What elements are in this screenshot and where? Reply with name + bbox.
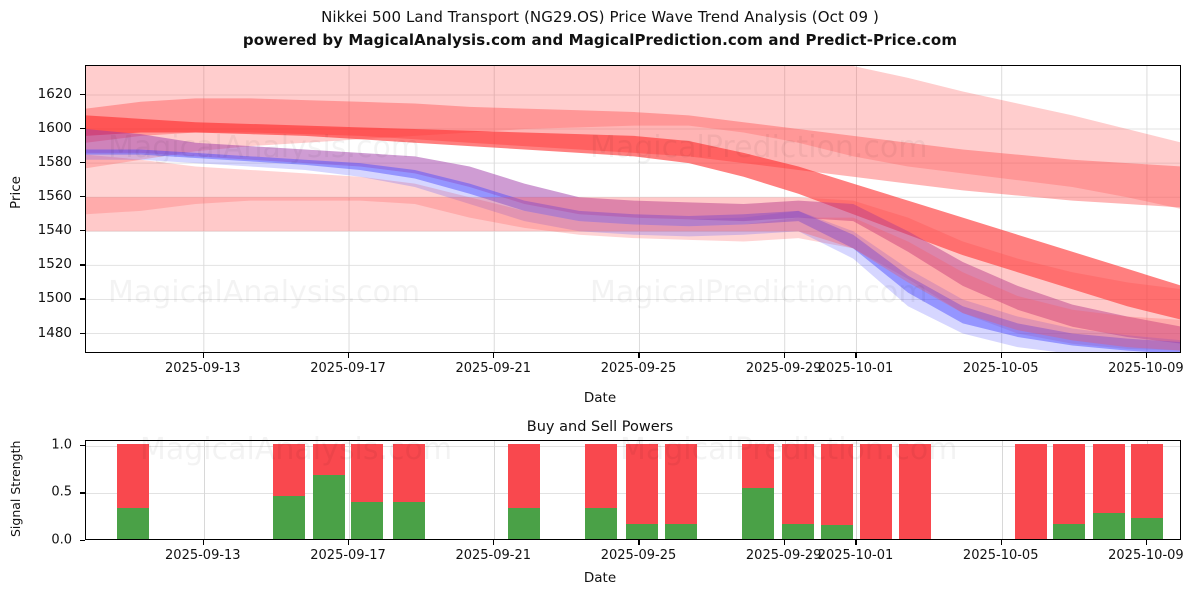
power-bar[interactable] [117,444,149,539]
power-x-tick-mark [855,540,856,545]
power-bar[interactable] [313,444,345,539]
power-x-tick-mark [638,540,639,545]
power-gridline-vertical [856,441,857,539]
sell-power-segment [665,444,697,524]
sell-power-segment [351,444,383,502]
power-bar[interactable] [899,444,931,539]
buy-power-segment [1053,524,1085,539]
buy-power-segment [351,502,383,539]
sell-power-segment [860,444,892,539]
buy-power-segment [273,496,305,539]
sell-power-segment [508,444,540,508]
price-x-tick-mark [1001,353,1002,358]
buy-power-segment [665,524,697,539]
sell-power-segment [393,444,425,502]
power-y-tick-label: 1.0 [10,437,72,452]
buy-power-segment [626,524,658,539]
power-chart-title: Buy and Sell Powers [0,419,1200,435]
buy-power-segment [508,508,540,539]
wave-band [86,197,1181,350]
price-x-tick-label: 2025-10-05 [963,361,1039,376]
price-y-tick-mark [80,94,85,95]
price-y-tick-mark [80,264,85,265]
power-gridline-vertical [349,441,350,539]
price-y-tick-label: 1560 [10,188,72,204]
sell-power-segment [273,444,305,496]
price-x-tick-label: 2025-09-25 [601,361,677,376]
power-bar[interactable] [1093,444,1125,539]
figure-title-line-1: Nikkei 500 Land Transport (NG29.OS) Pric… [0,8,1200,26]
power-bar[interactable] [351,444,383,539]
buy-power-segment [782,524,814,539]
power-bar[interactable] [273,444,305,539]
price-y-tick-label: 1500 [10,290,72,306]
power-x-axis-label: Date [0,570,1200,586]
price-x-tick-label: 2025-10-09 [1108,361,1184,376]
price-x-tick-mark [493,353,494,358]
price-x-tick-label: 2025-09-21 [455,361,531,376]
price-y-tick-label: 1600 [10,120,72,136]
price-x-tick-mark [784,353,785,358]
power-bar[interactable] [742,444,774,539]
price-y-tick-label: 1540 [10,222,72,238]
buy-power-segment [742,488,774,539]
sell-power-segment [782,444,814,524]
power-bar[interactable] [665,444,697,539]
price-y-tick-mark [80,196,85,197]
price-x-axis-label: Date [0,390,1200,406]
sell-power-segment [742,444,774,488]
price-x-tick-label: 2025-09-17 [310,361,386,376]
price-y-tick-label: 1480 [10,325,72,341]
sell-power-segment [899,444,931,539]
power-bar[interactable] [1131,444,1163,539]
power-y-tick-mark [80,540,85,541]
power-bar[interactable] [821,444,853,539]
power-x-tick-mark [1146,540,1147,545]
power-gridline-vertical [204,441,205,539]
buy-power-segment [313,475,345,539]
power-x-tick-label: 2025-10-05 [963,548,1039,563]
price-x-tick-mark [638,353,639,358]
price-y-tick-label: 1580 [10,154,72,170]
buy-power-segment [585,508,617,539]
power-x-tick-mark [1001,540,1002,545]
price-y-tick-mark [80,333,85,334]
power-gridline-vertical [494,441,495,539]
power-y-tick-mark [80,445,85,446]
power-bar[interactable] [1015,444,1047,539]
power-y-tick-mark [80,492,85,493]
price-wave-chart [85,65,1181,353]
price-y-tick-label: 1620 [10,86,72,102]
sell-power-segment [313,444,345,475]
buy-sell-powers-chart [85,440,1181,540]
price-wave-bands [86,66,1181,353]
price-x-tick-label: 2025-09-13 [165,361,241,376]
power-bar[interactable] [626,444,658,539]
buy-power-segment [117,508,149,539]
price-x-tick-label: 2025-10-01 [818,361,894,376]
price-y-tick-label: 1520 [10,256,72,272]
power-x-tick-mark [493,540,494,545]
figure-title-line-2: powered by MagicalAnalysis.com and Magic… [0,31,1200,49]
sell-power-segment [1053,444,1085,524]
sell-power-segment [585,444,617,508]
price-x-tick-mark [855,353,856,358]
power-bar[interactable] [585,444,617,539]
sell-power-segment [1093,444,1125,514]
sell-power-segment [626,444,658,524]
power-y-tick-label: 0.5 [10,485,72,500]
power-x-tick-label: 2025-09-29 [746,548,822,563]
power-bar[interactable] [860,444,892,539]
power-y-tick-label: 0.0 [10,533,72,548]
buy-power-segment [821,525,853,539]
power-x-tick-mark [203,540,204,545]
price-y-tick-mark [80,230,85,231]
sell-power-segment [1015,444,1047,539]
sell-power-segment [117,444,149,508]
power-bar[interactable] [393,444,425,539]
power-x-tick-mark [348,540,349,545]
buy-power-segment [1093,513,1125,539]
power-bar[interactable] [1053,444,1085,539]
power-x-tick-label: 2025-10-01 [818,548,894,563]
price-x-tick-label: 2025-09-29 [746,361,822,376]
power-x-tick-label: 2025-09-25 [601,548,677,563]
power-x-tick-label: 2025-09-13 [165,548,241,563]
price-y-tick-mark [80,298,85,299]
price-x-tick-mark [203,353,204,358]
sell-power-segment [1131,444,1163,518]
price-x-tick-mark [1146,353,1147,358]
power-x-tick-label: 2025-09-17 [310,548,386,563]
sell-power-segment [821,444,853,525]
buy-power-segment [393,502,425,539]
price-y-tick-mark [80,128,85,129]
power-gridline-vertical [1002,441,1003,539]
price-x-tick-mark [348,353,349,358]
power-x-tick-mark [784,540,785,545]
power-bar[interactable] [782,444,814,539]
price-y-tick-mark [80,162,85,163]
buy-power-segment [1131,518,1163,539]
power-x-tick-label: 2025-09-21 [455,548,531,563]
power-x-tick-label: 2025-10-09 [1108,548,1184,563]
power-bar[interactable] [508,444,540,539]
